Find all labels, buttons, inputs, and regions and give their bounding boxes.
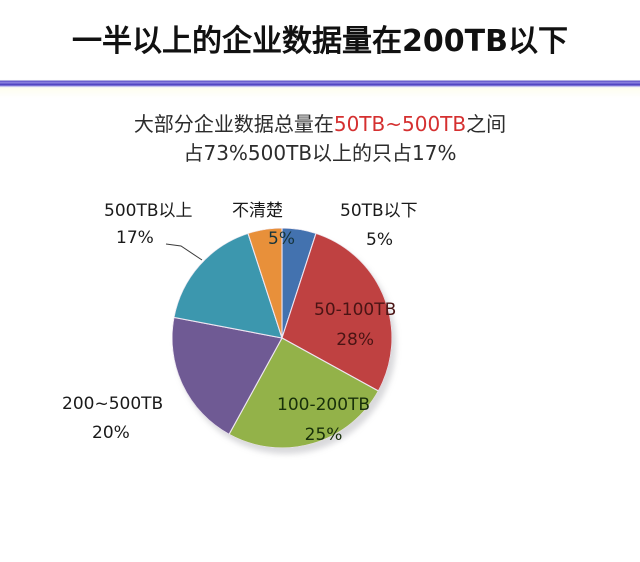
- pie-chart: 500TB以上 17% 不清楚 5% 50TB以下 5% 200~500TB 2…: [0, 180, 640, 490]
- slice-label-unknown-pct: 5%: [268, 229, 295, 249]
- slice-label-under50-name: 50TB以下: [340, 201, 418, 221]
- slice-label-unknown: 不清楚: [232, 196, 283, 221]
- footer: PP 云计算发展与政策论坛 China Cloud Computing Prom…: [0, 492, 640, 562]
- slice-label-50to100-name: 50-100TB: [314, 300, 396, 320]
- slice-label-50to100-pct: 28%: [314, 330, 396, 350]
- slice-label-200to500-pct: 20%: [92, 423, 163, 443]
- subtitle-suffix: 之间: [466, 112, 506, 136]
- slice-label-over500-name: 500TB以上: [104, 201, 193, 221]
- subtitle-line-2: 占73%500TB以上的只占17%: [0, 139, 640, 168]
- subtitle-highlight: 50TB~500TB: [334, 112, 466, 136]
- slice-label-over500-pct: 17%: [116, 228, 193, 248]
- page-title: 一半以上的企业数据量在200TB以下: [0, 16, 640, 60]
- slice-label-200to500: 200~500TB 20%: [62, 394, 163, 443]
- slice-label-under50-pct: 5%: [366, 230, 418, 250]
- slice-label-100to200-pct: 25%: [277, 425, 370, 445]
- title-divider: [0, 79, 640, 88]
- slice-label-200to500-name: 200~500TB: [62, 394, 163, 414]
- slice-label-under50: 50TB以下 5%: [340, 196, 418, 250]
- subtitle: 大部分企业数据总量在50TB~500TB之间 占73%500TB以上的只占17%: [0, 110, 640, 168]
- subtitle-prefix: 大部分企业数据总量在: [134, 112, 334, 136]
- slice-label-50to100: 50-100TB 28%: [314, 300, 396, 350]
- slide-canvas: 一半以上的企业数据量在200TB以下 大部分企业数据总量在50TB~500TB之…: [0, 0, 640, 562]
- title-band: 一半以上的企业数据量在200TB以下: [0, 0, 640, 80]
- slice-label-100to200-name: 100-200TB: [277, 395, 370, 415]
- title-divider-glow: [0, 88, 640, 98]
- slice-label-unknown-name: 不清楚: [232, 201, 283, 221]
- slice-label-over500: 500TB以上 17%: [104, 196, 193, 248]
- slice-label-100to200: 100-200TB 25%: [277, 395, 370, 445]
